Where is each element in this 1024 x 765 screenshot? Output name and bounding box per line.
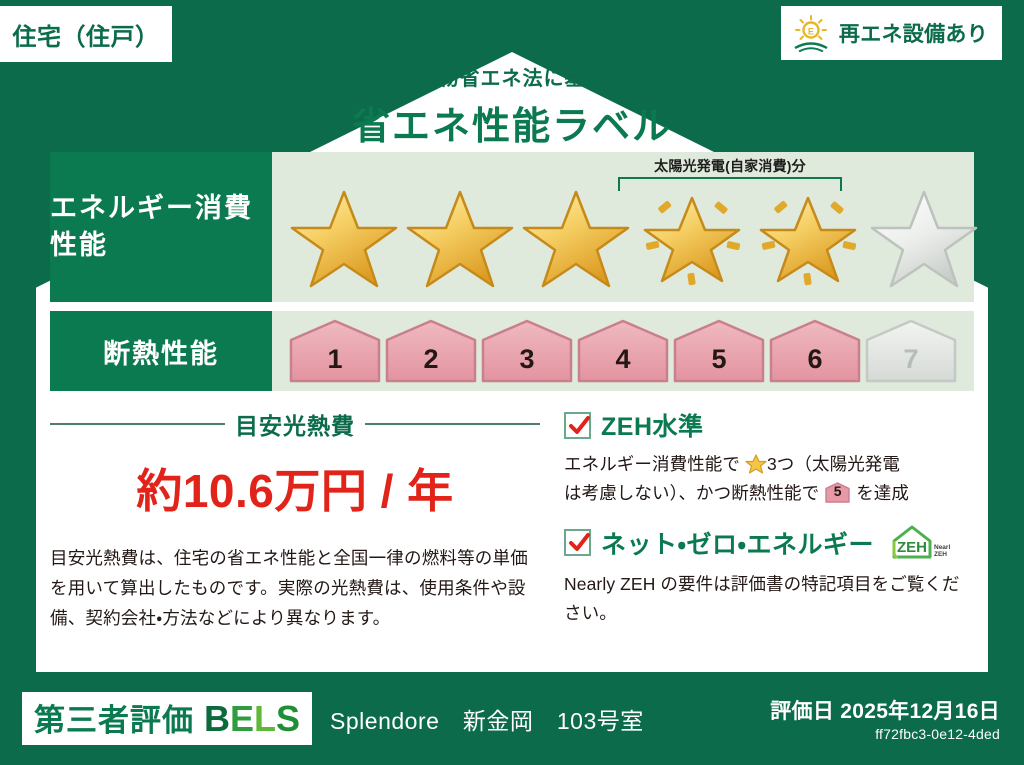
house-step-4: 4 — [576, 318, 670, 384]
claim-zeh-standard: ZEH水準 エネルギー消費性能で 3つ（太陽光発電 は考慮しない）、かつ断熱性能… — [564, 407, 974, 509]
claim-net-zero-head: ネット・ゼロ・エネルギー ZEH Nearly ZEH — [564, 523, 974, 563]
star-icon-4-solar — [636, 180, 748, 288]
utility-cost-heading-text: 目安光熱費 — [235, 407, 355, 441]
claims-column: ZEH水準 エネルギー消費性能で 3つ（太陽光発電 は考慮しない）、かつ断熱性能… — [564, 405, 974, 633]
zeh-nearly-logo: ZEH Nearly ZEH — [888, 523, 950, 563]
svg-text:E: E — [808, 27, 814, 37]
star-icon-2 — [404, 180, 516, 288]
insulation-performance-label: 断熱性能 — [50, 311, 272, 391]
claim-zeh-text-part3: を達成 — [856, 483, 909, 503]
utility-cost-heading: 目安光熱費 — [50, 407, 540, 441]
house-step-4-number: 4 — [576, 344, 670, 375]
house-step-2-number: 2 — [384, 344, 478, 375]
house-step-5-number: 5 — [672, 344, 766, 375]
solar-sun-icon: E — [791, 14, 831, 52]
badge-dwelling-type: 住宅（住戸） — [0, 6, 172, 62]
svg-text:ZEH: ZEH — [934, 551, 947, 558]
claim-zeh-standard-title: ZEH水準 — [601, 407, 704, 443]
star-icon-6-empty — [868, 180, 980, 288]
claim-zeh-text-stars: 3つ（太陽光発電 — [767, 454, 900, 474]
claim-zeh-text-part1: エネルギー消費性能で — [564, 454, 740, 474]
house-step-5: 5 — [672, 318, 766, 384]
star-icon-1 — [288, 180, 400, 288]
bels-letter-s: S — [276, 698, 300, 739]
svg-text:Nearly: Nearly — [934, 544, 950, 551]
evaluation-id: ff72fbc3-0e12-4ded — [770, 726, 1000, 742]
bels-letter-e: E — [230, 698, 254, 739]
label-content: エネルギー消費性能 太陽光発電(自家消費)分 — [50, 152, 974, 633]
property-name: Splendore 新金岡 103号室 — [330, 702, 644, 736]
check-icon — [564, 412, 591, 439]
house-step-1: 1 — [288, 318, 382, 384]
claim-zeh-standard-body: エネルギー消費性能で 3つ（太陽光発電 は考慮しない）、かつ断熱性能で 5 を達… — [564, 450, 974, 509]
star-icon-5-solar — [752, 180, 864, 288]
lower-section: 目安光熱費 約10.6万円 / 年 目安光熱費は、住宅の省エネ性能と全国一律の燃… — [50, 405, 974, 633]
insulation-step-list: 1 2 3 4 5 — [288, 318, 958, 384]
claim-net-zero-body: Nearly ZEH の要件は評価書の特記項目をご覧ください。 — [564, 570, 974, 629]
utility-cost-note: 目安光熱費は、住宅の省エネ性能と全国一律の燃料等の単価を用いて算出したものです。… — [50, 543, 540, 633]
star-icon-3 — [520, 180, 632, 288]
house-step-6: 6 — [768, 318, 862, 384]
house-step-2: 2 — [384, 318, 478, 384]
insulation-performance-row: 断熱性能 1 2 3 — [50, 311, 974, 391]
claim-zeh-text-part2: は考慮しない）、かつ断熱性能で — [564, 483, 819, 503]
inline-house-level-icon: 5 — [824, 482, 851, 503]
claim-zeh-standard-head: ZEH水準 — [564, 407, 974, 443]
bels-jp-label: 第三者評価 — [34, 695, 194, 740]
inline-house-level-number: 5 — [824, 480, 851, 504]
insulation-performance-scale: 1 2 3 4 5 — [272, 311, 974, 391]
utility-cost-value: 約10.6万円 / 年 — [50, 455, 540, 521]
badge-renewable-label: 再エネ設備あり — [839, 18, 988, 48]
solar-annotation-text: 太陽光発電(自家消費)分 — [618, 156, 842, 176]
badge-dwelling-label: 住宅（住戸） — [13, 17, 160, 52]
star-rating — [288, 180, 980, 288]
badge-renewable-equipment: E 再エネ設備あり — [781, 6, 1002, 60]
bels-logo-plate: 第三者評価 BELS — [22, 692, 312, 745]
energy-performance-label: エネルギー消費性能 — [50, 152, 272, 302]
footer-bar: 第三者評価 BELS Splendore 新金岡 103号室 評価日 2025年… — [0, 672, 1024, 765]
house-step-1-number: 1 — [288, 344, 382, 375]
check-icon — [564, 529, 591, 556]
house-step-7-inactive: 7 — [864, 318, 958, 384]
inline-star-icon — [745, 453, 767, 474]
heading-rule-right — [365, 423, 540, 425]
evaluation-date: 評価日 2025年12月16日 — [770, 695, 1000, 725]
house-step-7-number: 7 — [864, 344, 958, 375]
utility-cost-column: 目安光熱費 約10.6万円 / 年 目安光熱費は、住宅の省エネ性能と全国一律の燃… — [50, 405, 540, 633]
label-title: 建築物省エネ法に基づく 省エネ性能ラベル — [0, 62, 1024, 150]
svg-text:ZEH: ZEH — [897, 539, 927, 556]
claim-net-zero-energy: ネット・ゼロ・エネルギー ZEH Nearly ZEH Nearly ZEH の… — [564, 523, 974, 629]
claim-net-zero-title: ネット・ゼロ・エネルギー — [601, 525, 874, 561]
bels-en-logo: BELS — [204, 698, 300, 740]
bels-letter-l: L — [254, 698, 276, 739]
title-main: 省エネ性能ラベル — [0, 95, 1024, 150]
house-step-3: 3 — [480, 318, 574, 384]
bels-letter-b: B — [204, 698, 230, 739]
evaluation-info: 評価日 2025年12月16日 ff72fbc3-0e12-4ded — [770, 695, 1000, 742]
house-step-6-number: 6 — [768, 344, 862, 375]
heading-rule-left — [50, 423, 225, 425]
house-step-3-number: 3 — [480, 344, 574, 375]
energy-performance-scale: 太陽光発電(自家消費)分 — [272, 152, 974, 302]
title-subtitle: 建築物省エネ法に基づく — [0, 62, 1024, 91]
energy-performance-row: エネルギー消費性能 太陽光発電(自家消費)分 — [50, 152, 974, 302]
